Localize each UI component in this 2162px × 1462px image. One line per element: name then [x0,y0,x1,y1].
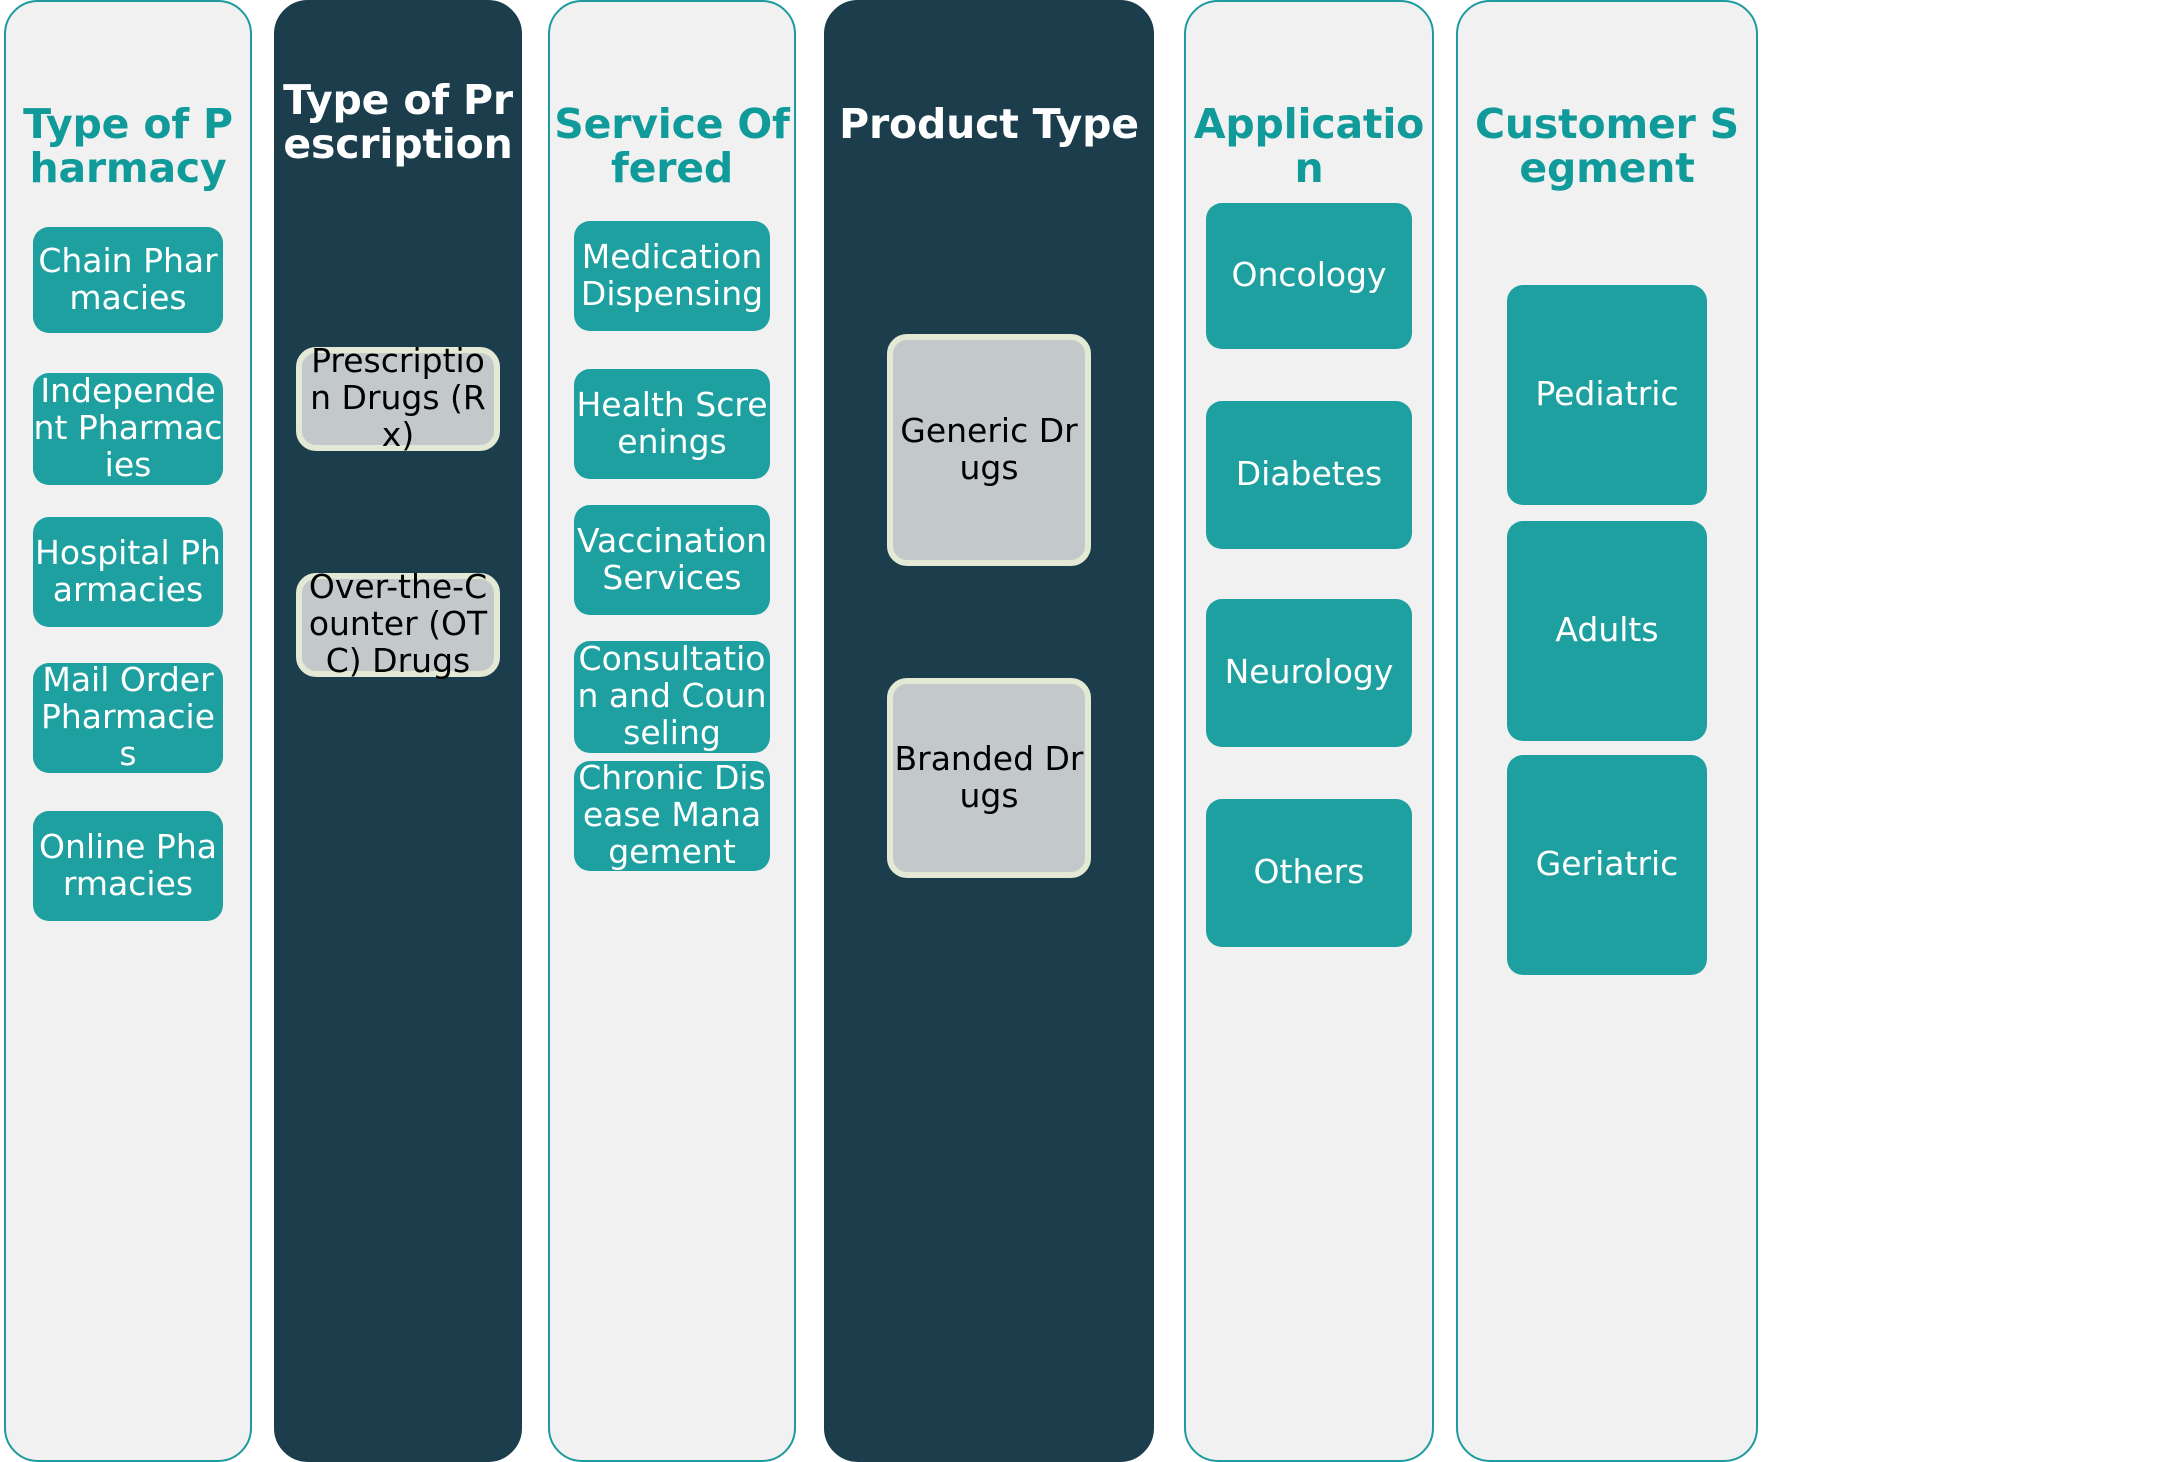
item-mail-order-pharmacies[interactable]: Mail Order Pharmacies [33,663,223,773]
items-stack-customer-segment: Pediatric Adults Geriatric [1458,285,1756,975]
column-product-type: Product Type Generic Drugs Branded Drugs [824,0,1154,1462]
item-branded-drugs[interactable]: Branded Drugs [887,678,1091,878]
item-neurology[interactable]: Neurology [1206,599,1412,747]
item-online-pharmacies[interactable]: Online Pharmacies [33,811,223,921]
item-vaccination-services[interactable]: Vaccination Services [574,505,770,615]
items-stack-type-of-pharmacy: Chain Pharmacies Independent Pharmacies … [6,227,250,921]
items-stack-type-of-prescription: Prescription Drugs (Rx) Over-the-Counter… [276,347,520,677]
column-type-of-pharmacy: Type of Pharmacy Chain Pharmacies Indepe… [4,0,252,1462]
market-segmentation-diagram: Type of Pharmacy Chain Pharmacies Indepe… [0,0,2162,1462]
items-stack-product-type: Generic Drugs Branded Drugs [826,334,1152,878]
items-stack-service-offered: Medication Dispensing Health Screenings … [550,221,794,871]
column-title-product-type: Product Type [826,102,1152,146]
item-consultation-and-counseling[interactable]: Consultation and Counseling [574,641,770,753]
column-title-type-of-prescription: Type of Prescription [276,78,520,167]
column-type-of-prescription: Type of Prescription Prescription Drugs … [274,0,522,1462]
item-pediatric[interactable]: Pediatric [1507,285,1707,505]
column-service-offered: Service Offered Medication Dispensing He… [548,0,796,1462]
column-title-application: Application [1186,102,1432,191]
column-title-customer-segment: Customer Segment [1458,102,1756,191]
item-adults[interactable]: Adults [1507,521,1707,741]
column-application: Application Oncology Diabetes Neurology … [1184,0,1434,1462]
column-title-type-of-pharmacy: Type of Pharmacy [6,102,250,191]
item-oncology[interactable]: Oncology [1206,203,1412,349]
item-hospital-pharmacies[interactable]: Hospital Pharmacies [33,517,223,627]
item-medication-dispensing[interactable]: Medication Dispensing [574,221,770,331]
item-independent-pharmacies[interactable]: Independent Pharmacies [33,373,223,485]
item-generic-drugs[interactable]: Generic Drugs [887,334,1091,566]
column-title-service-offered: Service Offered [550,102,794,191]
item-chronic-disease-management[interactable]: Chronic Disease Management [574,761,770,871]
item-diabetes[interactable]: Diabetes [1206,401,1412,549]
item-health-screenings[interactable]: Health Screenings [574,369,770,479]
items-stack-application: Oncology Diabetes Neurology Others [1186,203,1432,947]
item-over-the-counter-otc-drugs[interactable]: Over-the-Counter (OTC) Drugs [296,573,500,677]
column-customer-segment: Customer Segment Pediatric Adults Geriat… [1456,0,1758,1462]
item-chain-pharmacies[interactable]: Chain Pharmacies [33,227,223,333]
item-others[interactable]: Others [1206,799,1412,947]
item-geriatric[interactable]: Geriatric [1507,755,1707,975]
item-prescription-drugs-rx[interactable]: Prescription Drugs (Rx) [296,347,500,451]
